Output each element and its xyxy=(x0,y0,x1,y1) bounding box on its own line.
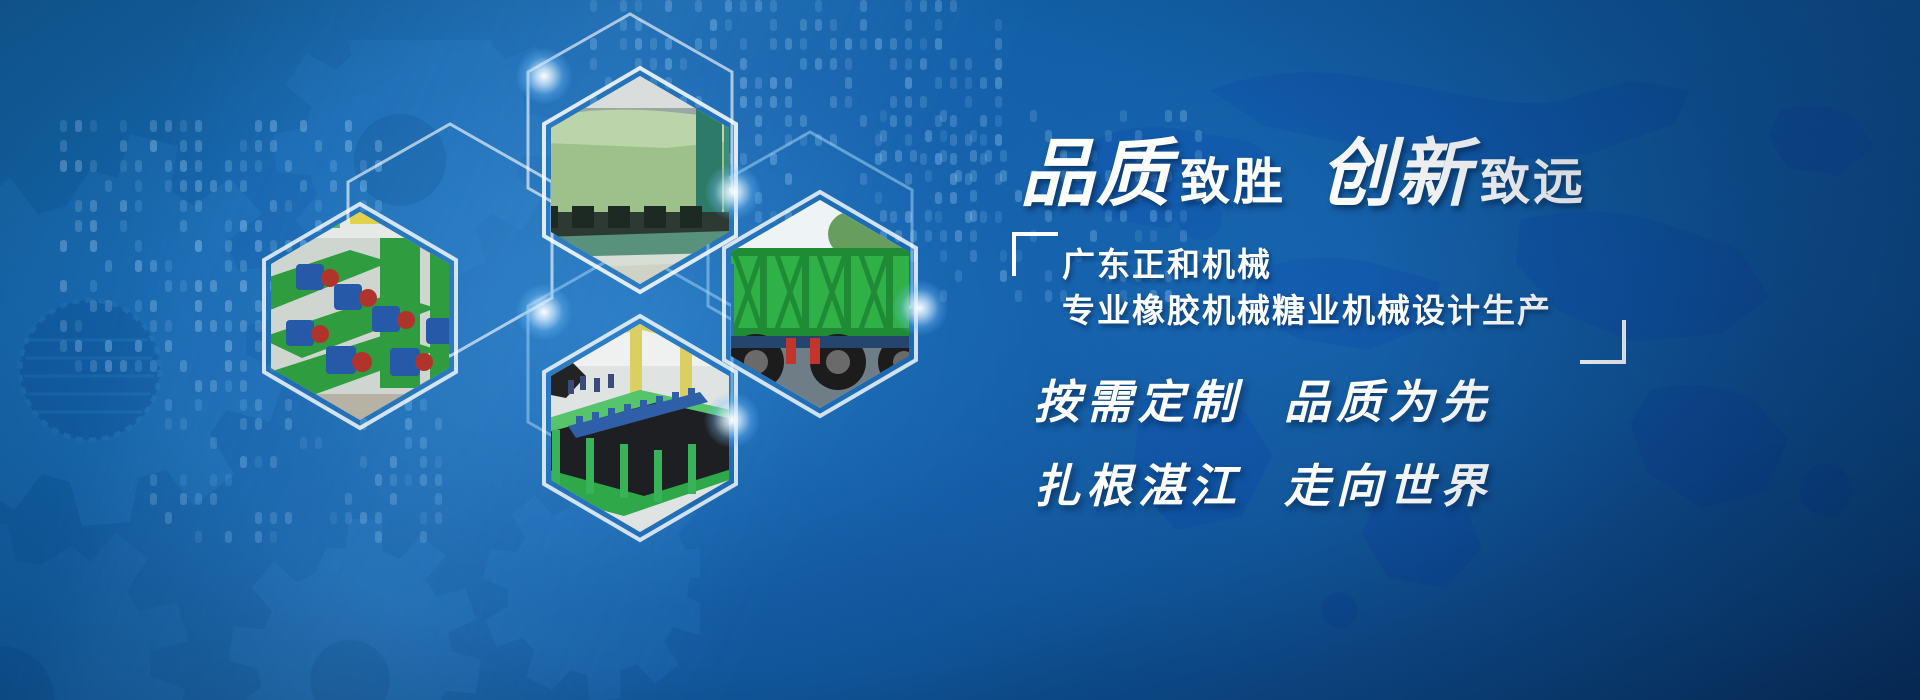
banner-text-block: 品质致胜创新致远 广东正和机械 专业橡胶机械糖业机械设计生产 按需定制品质为先 … xyxy=(1012,96,1842,626)
headline-part1-big: 品质 xyxy=(1020,131,1172,217)
subtitle-line-1: 广东正和机械 xyxy=(1062,238,1272,286)
subtitle-line-2: 专业橡胶机械糖业机械设计生产 xyxy=(1062,284,1552,332)
slogan-1-left: 按需定制 xyxy=(1034,375,1242,429)
hexagon-photo-cluster xyxy=(120,40,940,660)
slogan-row-2: 扎根湛江走向世界 xyxy=(1034,450,1492,516)
headline-part2-small: 致远 xyxy=(1480,154,1586,210)
slogan-1-right: 品质为先 xyxy=(1284,375,1492,429)
headline-part1-small: 致胜 xyxy=(1180,154,1286,210)
bracket-bottom-right-icon xyxy=(1580,320,1626,364)
slogan-group: 按需定制品质为先 扎根湛江走向世界 xyxy=(1034,366,1492,534)
slogan-row-1: 按需定制品质为先 xyxy=(1034,366,1492,432)
headline-part2-big: 创新 xyxy=(1320,131,1472,217)
bracket-top-left-icon xyxy=(1012,232,1058,276)
promo-banner: 品质致胜创新致远 广东正和机械 专业橡胶机械糖业机械设计生产 按需定制品质为先 … xyxy=(0,0,1920,700)
slogan-2-left: 扎根湛江 xyxy=(1034,459,1242,513)
slogan-2-right: 走向世界 xyxy=(1284,459,1492,513)
company-subtitle: 广东正和机械 专业橡胶机械糖业机械设计生产 xyxy=(1012,232,1612,354)
banner-headline: 品质致胜创新致远 xyxy=(1020,114,1586,221)
